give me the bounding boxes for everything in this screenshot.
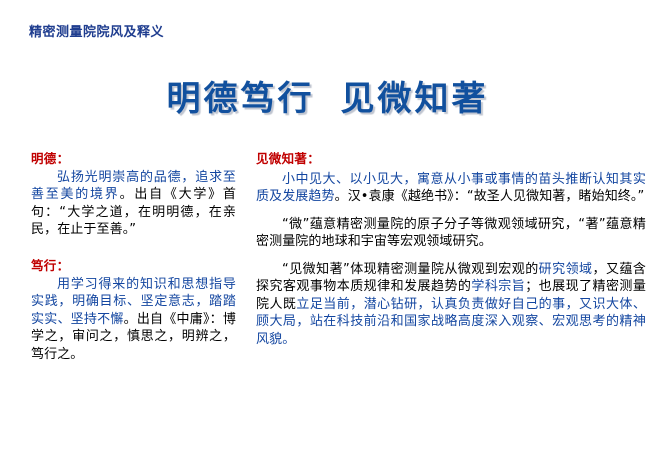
section-heading-duxing: 笃行： [31, 257, 236, 276]
page-title: 明德笃行见微知著 [0, 78, 655, 121]
paragraph-mingde-body: 弘扬光明崇高的品德，追求至善至美的境界。出自《大学》首句：“大学之道，在明明德，… [31, 169, 236, 239]
page-title-part-1: 明德笃行 [167, 79, 315, 119]
left-column-spacer [31, 239, 236, 257]
left-column: 明德： 弘扬光明崇高的品德，追求至善至美的境界。出自《大学》首句：“大学之道，在… [31, 150, 236, 363]
paragraph-wei-zhu-explanation: “微”蕴意精密测量院的原子分子等微观领域研究，“著”蕴意精密测量院的地球和宇宙等… [256, 216, 646, 251]
paragraph-spirit-summary: “见微知著”体现精密测量院从微观到宏观的研究领域，又蕴含探究客观事物本质规律和发… [256, 261, 646, 349]
summary-blue-3: 立足当前，潜心钻研，认真负责做好自己的事，又识大体、顾大局，站在科技前沿和国家战… [256, 297, 646, 347]
section-heading-jianweizhizhu: 见微知著： [256, 150, 646, 169]
paragraph-jianweizhizhu-body: 小中见大、以小见大，寓意从小事或事情的苗头推断认知其实质及发展趋势。汉•袁康《越… [256, 171, 646, 206]
page-title-part-2: 见微知著 [341, 79, 489, 119]
paragraph-duxing-body: 用学习得来的知识和思想指导实践，明确目标、坚定意志，踏踏实实、坚持不懈。出自《中… [31, 276, 236, 364]
right-column: 见微知著： 小中见大、以小见大，寓意从小事或事情的苗头推断认知其实质及发展趋势。… [256, 150, 646, 348]
section-heading-mingde: 明德： [31, 150, 236, 169]
slide-header-title: 精密测量院院风及释义 [29, 25, 164, 41]
content-body: 明德： 弘扬光明崇高的品德，追求至善至美的境界。出自《大学》首句：“大学之道，在… [0, 150, 655, 410]
paragraph-jianweizhizhu-black-text: 。汉•袁康《越绝书》：“故圣人见微知著，睹始知终。” [335, 189, 645, 204]
summary-blue-1: 研究领域 [539, 262, 593, 277]
summary-black-1: “见微知著”体现精密测量院从微观到宏观的 [282, 262, 539, 277]
summary-blue-2: 学科宗旨 [471, 279, 525, 294]
